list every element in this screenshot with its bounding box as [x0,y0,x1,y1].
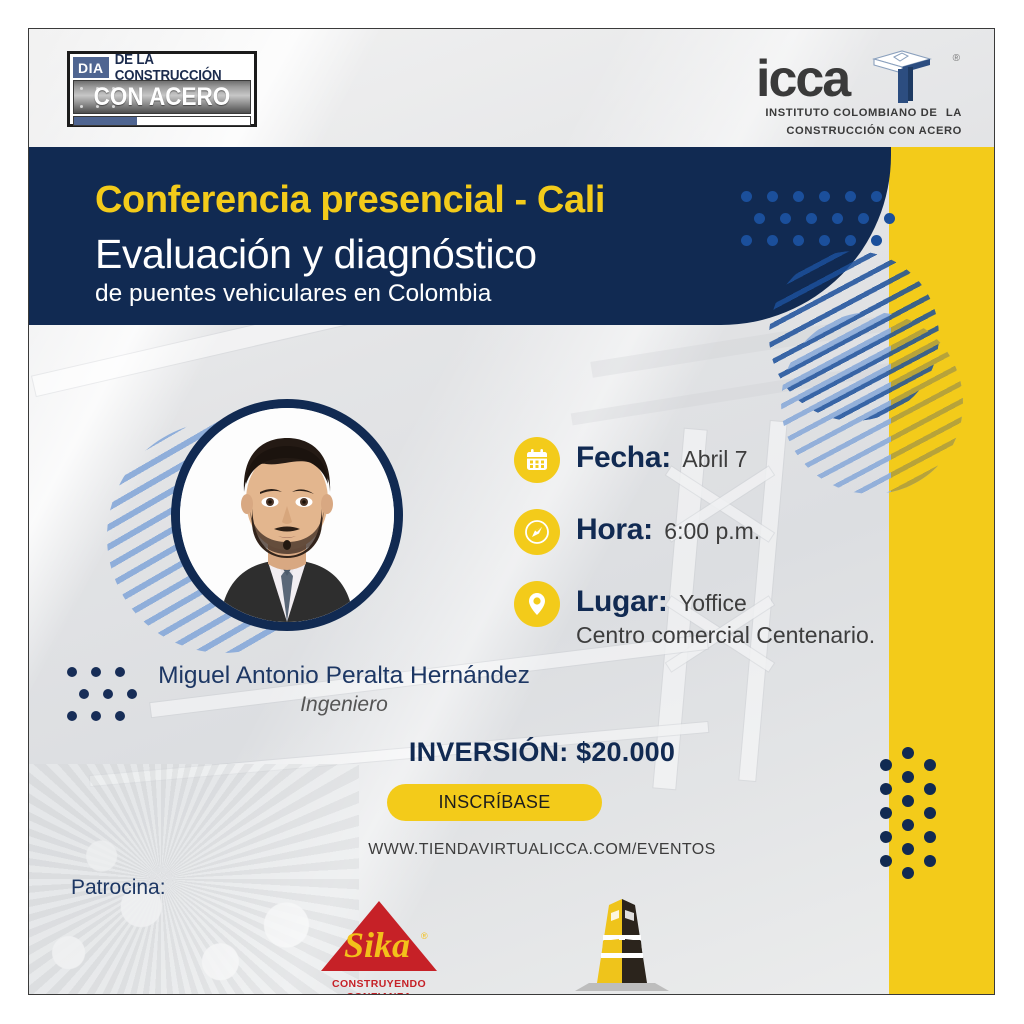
dia-logo-tag: DIA [73,57,109,78]
registration-url[interactable]: WWW.TIENDAVIRTUALICCA.COM/EVENTOS [332,841,752,859]
map-pin-icon [514,581,560,627]
speaker-block: Miguel Antonio Peralta Hernández Ingenie… [134,661,554,718]
compass-icon [514,509,560,555]
dia-logo-line2: CON ACERO [94,83,231,112]
event-flyer: DIA DE LA CONSTRUCCIÓN CON ACERO ® [28,28,995,995]
dia-logo-line1: DE LA CONSTRUCCIÓN [114,57,245,78]
speaker-dot-grid [67,667,131,729]
peralta-monument-icon [557,895,687,995]
sika-logo: Sika ® CONSTRUYENDO CONFIANZA [319,901,439,995]
page-title: Evaluación y diagnóstico [95,229,795,279]
sika-triangle-icon: Sika ® [321,901,437,971]
speaker-name: Miguel Antonio Peralta Hernández [134,661,554,691]
top-logo-bar: DIA DE LA CONSTRUCCIÓN CON ACERO ® [29,29,995,147]
detail-value-hora: 6:00 p.m. [664,518,760,544]
detail-label-fecha: Fecha: [576,441,671,474]
dia-construccion-acero-logo: DIA DE LA CONSTRUCCIÓN CON ACERO [67,51,257,127]
banner-text-block: Conferencia presencial - Cali Evaluación… [95,177,795,309]
price-text: INVERSIÓN: $20.000 [332,737,752,768]
avatar [171,399,403,631]
detail-label-hora: Hora: [576,513,653,546]
speaker-photo [180,408,394,622]
banner-kicker: Conferencia presencial - Cali [95,177,795,223]
poster-frame: DIA DE LA CONSTRUCCIÓN CON ACERO ® [0,0,1024,1024]
detail-row-hora: Hora: 6:00 p.m. [514,509,944,555]
peralta-ingenieria-logo: PERALTA INGENIERIA Consultoría & Constru… [534,895,709,995]
sika-tagline-line1: CONSTRUYENDO [332,978,426,990]
edge-dot-grid [860,741,960,881]
calendar-icon [514,437,560,483]
svg-text:Sika: Sika [344,925,410,965]
detail-text-lugar: Lugar: Yoffice Centro comercial Centenar… [576,581,875,649]
sika-tagline: CONSTRUYENDO CONFIANZA [319,978,439,995]
icca-logo: ® icca INSTITUTO COLOMBIANO DE LA CONSTR… [752,55,962,141]
detail-value-fecha: Abril 7 [682,446,747,472]
register-button[interactable]: INSCRÍBASE [387,784,602,821]
sponsors-label: Patrocina: [71,876,166,900]
icca-subtitle-line1: INSTITUTO COLOMBIANO DE [761,107,937,119]
detail-label-lugar: Lugar: [576,585,668,618]
speaker-role: Ingeniero [134,691,554,718]
detail-text-fecha: Fecha: Abril 7 [576,437,748,475]
event-details-list: Fecha: Abril 7 Hora: 6:00 p.m. [514,437,944,675]
icca-wordmark: icca [752,55,962,103]
detail-value-lugar: Yoffice [679,590,747,616]
svg-text:®: ® [421,931,428,941]
detail-value-lugar-line2: Centro comercial Centenario. [576,622,875,649]
detail-row-fecha: Fecha: Abril 7 [514,437,944,483]
sika-tagline-line2: CONFIANZA [346,991,411,996]
banner-subtitle: de puentes vehiculares en Colombia [95,279,795,309]
detail-row-lugar: Lugar: Yoffice Centro comercial Centenar… [514,581,944,649]
detail-text-hora: Hora: 6:00 p.m. [576,509,760,547]
